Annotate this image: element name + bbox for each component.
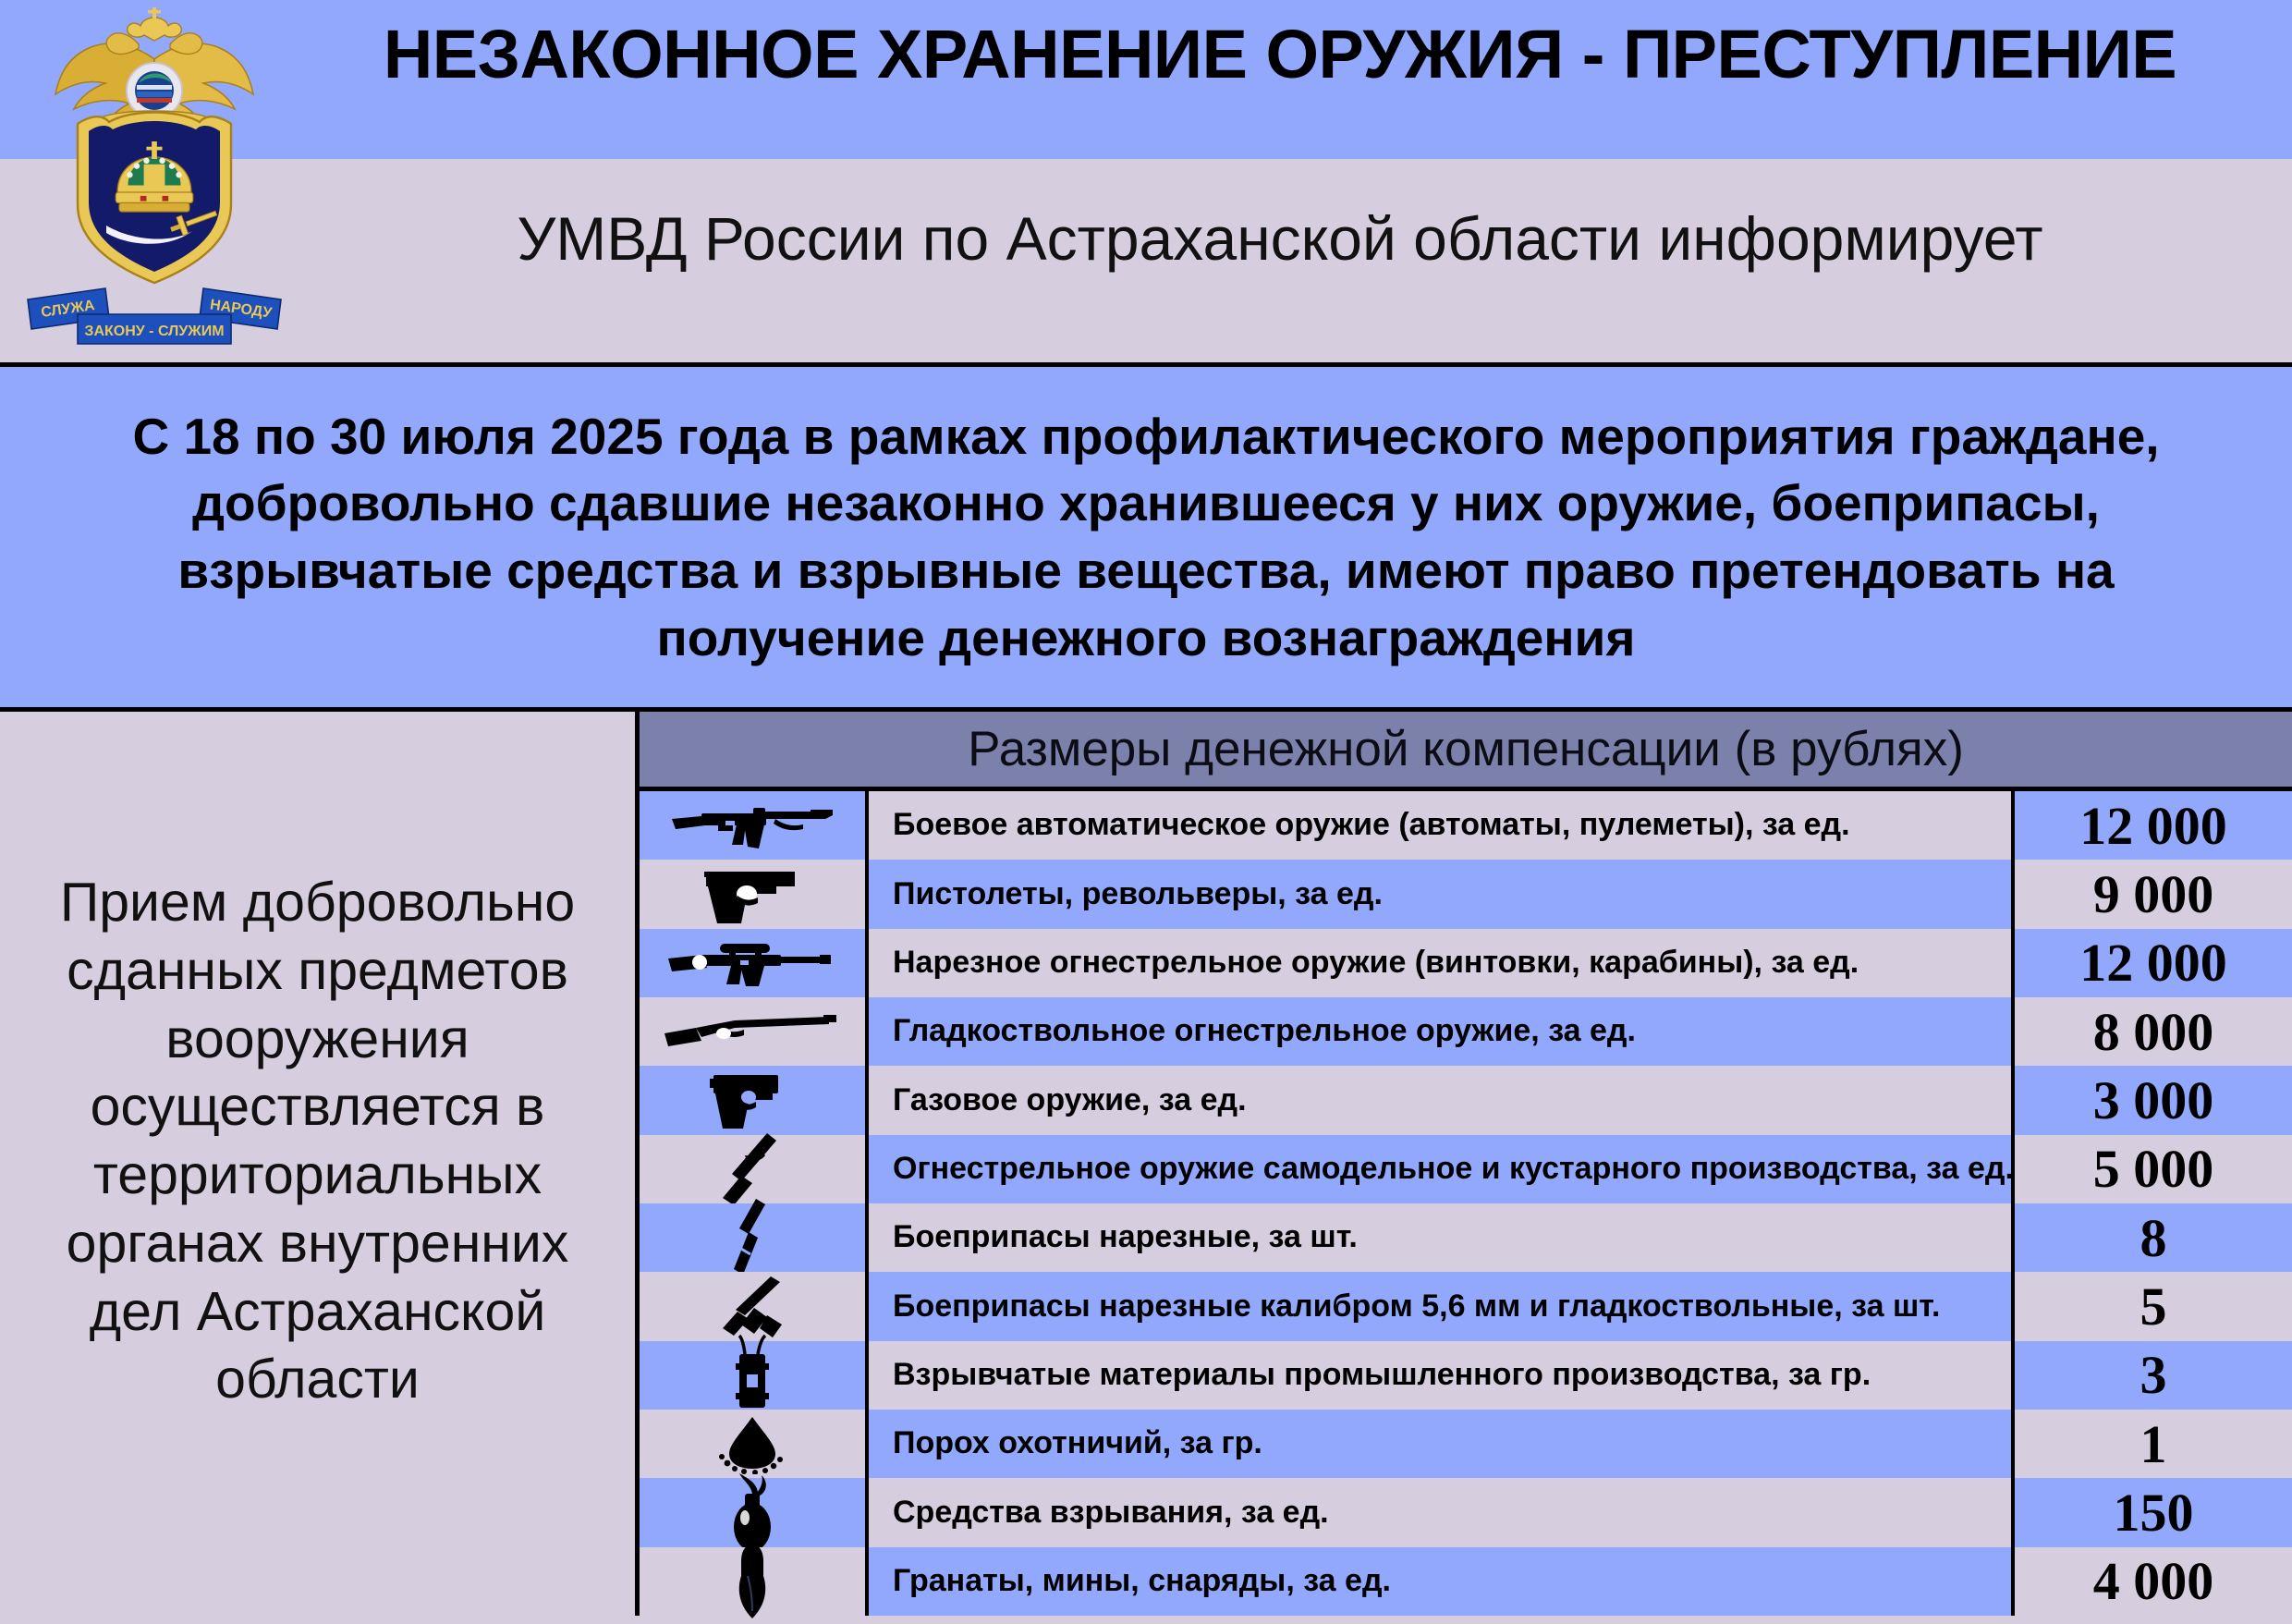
row-label-cell: Гладкоствольное огнестрельное оружие, за…: [869, 997, 2015, 1066]
compensation-table: Размеры денежной компенсации (в рублях): [640, 712, 2292, 1616]
row-amount-cell: 3 000: [2015, 1066, 2292, 1134]
row-amount-cell: 1: [2015, 1410, 2292, 1478]
table-row: Порох охотничий, за гр. 1: [640, 1410, 2292, 1478]
row-amount-cell: 9 000: [2015, 860, 2292, 928]
row-label: Гладкоствольное огнестрельное оружие, за…: [893, 1014, 1636, 1048]
table-row: Газовое оружие, за ед. 3 000: [640, 1066, 2292, 1134]
sidebar-info: Прием добровольно сданных предметов воор…: [0, 712, 640, 1616]
row-icon-cell: [640, 1203, 869, 1272]
row-label-cell: Пистолеты, револьверы, за ед.: [869, 860, 2015, 928]
row-label: Огнестрельное оружие самодельное и куста…: [893, 1152, 2014, 1186]
announcement-text: С 18 по 30 июля 2025 года в рамках профи…: [65, 403, 2227, 671]
dynamite-icon: [726, 1334, 778, 1417]
scoped-rifle-icon: [663, 934, 843, 992]
row-amount: 3 000: [2093, 1069, 2214, 1131]
row-label-cell: Газовое оружие, за ед.: [869, 1066, 2015, 1134]
row-icon-cell: [640, 1478, 869, 1546]
row-label-cell: Огнестрельное оружие самодельное и куста…: [869, 1135, 2015, 1203]
row-label-cell: Взрывчатые материалы промышленного произ…: [869, 1341, 2015, 1410]
row-icon-cell: [640, 929, 869, 997]
header-section: СЛУЖА НАРОДУ ЗАКОНУ - СЛУЖИМ НЕЗАКОННОЕ …: [0, 0, 2292, 362]
table-row: Огнестрельное оружие самодельное и куста…: [640, 1135, 2292, 1203]
row-label-cell: Гранаты, мины, снаряды, за ед.: [869, 1547, 2015, 1616]
row-amount: 12 000: [2079, 795, 2227, 857]
row-amount-cell: 12 000: [2015, 929, 2292, 997]
row-amount: 8: [2140, 1207, 2167, 1269]
row-amount: 150: [2114, 1482, 2194, 1544]
table-body: Боевое автоматическое оружие (автоматы, …: [640, 791, 2292, 1616]
table-header: Размеры денежной компенсации (в рублях): [640, 712, 2292, 791]
sidebar-text: Прием добровольно сданных предметов воор…: [22, 869, 614, 1414]
row-amount-cell: 5: [2015, 1272, 2292, 1340]
row-label: Боеприпасы нарезные, за шт.: [893, 1220, 1358, 1254]
row-amount: 8 000: [2093, 1001, 2214, 1063]
row-icon-cell: [640, 1135, 869, 1203]
page-subtitle: УМВД России по Астраханской области инфо…: [305, 205, 2255, 273]
grenade-icon: [730, 1539, 774, 1624]
row-amount-cell: 8 000: [2015, 997, 2292, 1066]
table-row: Средства взрывания, за ед. 150: [640, 1478, 2292, 1546]
announcement-block: С 18 по 30 июля 2025 года в рамках профи…: [0, 362, 2292, 712]
row-label: Боевое автоматическое оружие (автоматы, …: [893, 808, 1850, 842]
row-icon-cell: [640, 791, 869, 860]
gunpowder-pile-icon: [713, 1413, 792, 1474]
row-amount: 5: [2140, 1276, 2167, 1337]
row-icon-cell: [640, 1547, 869, 1616]
row-label-cell: Боеприпасы нарезные калибром 5,6 мм и гл…: [869, 1272, 2015, 1340]
row-label: Гранаты, мины, снаряды, за ед.: [893, 1564, 1391, 1598]
table-header-label: Размеры денежной компенсации (в рублях): [968, 721, 1964, 777]
table-row: Гранаты, мины, снаряды, за ед. 4 000: [640, 1547, 2292, 1616]
row-label-cell: Нарезное огнестрельное оружие (винтовки,…: [869, 929, 2015, 997]
row-amount: 12 000: [2079, 932, 2227, 994]
row-label: Пистолеты, револьверы, за ед.: [893, 877, 1383, 911]
row-amount: 4 000: [2093, 1550, 2214, 1612]
gas-pistol-icon: [701, 1068, 804, 1132]
row-label-cell: Боеприпасы нарезные, за шт.: [869, 1203, 2015, 1272]
row-amount-cell: 150: [2015, 1478, 2292, 1546]
page-title: НЕЗАКОННОЕ ХРАНЕНИЕ ОРУЖИЯ - ПРЕСТУПЛЕНИ…: [305, 20, 2255, 89]
row-icon-cell: [640, 1066, 869, 1134]
row-label-cell: Средства взрывания, за ед.: [869, 1478, 2015, 1546]
row-icon-cell: [640, 1410, 869, 1478]
table-row: Нарезное огнестрельное оружие (винтовки,…: [640, 929, 2292, 997]
assault-rifle-icon: [664, 797, 840, 854]
poster-root: СЛУЖА НАРОДУ ЗАКОНУ - СЛУЖИМ НЕЗАКОННОЕ …: [0, 0, 2292, 1616]
row-icon-cell: [640, 997, 869, 1066]
row-amount-cell: 3: [2015, 1341, 2292, 1410]
row-icon-cell: [640, 860, 869, 928]
row-label: Средства взрывания, за ед.: [893, 1496, 1329, 1530]
row-amount: 3: [2140, 1344, 2167, 1406]
row-amount: 1: [2140, 1413, 2167, 1475]
shotgun-icon: [661, 1006, 844, 1057]
table-row: Гладкоствольное огнестрельное оружие, за…: [640, 997, 2292, 1066]
row-label: Газовое оружие, за ед.: [893, 1083, 1247, 1117]
row-label: Боеприпасы нарезные калибром 5,6 мм и гл…: [893, 1289, 1940, 1324]
row-label: Взрывчатые материалы промышленного произ…: [893, 1358, 1871, 1392]
row-label-cell: Боевое автоматическое оружие (автоматы, …: [869, 791, 2015, 860]
emblem-motto-bottom: ЗАКОНУ - СЛУЖИМ: [84, 324, 224, 339]
row-amount: 5 000: [2093, 1138, 2214, 1200]
row-icon-cell: [640, 1341, 869, 1410]
row-amount: 9 000: [2093, 863, 2214, 925]
table-row: Пистолеты, револьверы, за ед. 9 000: [640, 860, 2292, 928]
row-amount-cell: 12 000: [2015, 791, 2292, 860]
cartridge-icon: [728, 1195, 776, 1280]
row-amount-cell: 8: [2015, 1203, 2292, 1272]
row-icon-cell: [640, 1272, 869, 1340]
row-amount-cell: 4 000: [2015, 1547, 2292, 1616]
small-cartridges-icon: [713, 1271, 791, 1341]
table-row: Боеприпасы нарезные калибром 5,6 мм и гл…: [640, 1272, 2292, 1340]
row-label: Порох охотничий, за гр.: [893, 1426, 1262, 1460]
pistol-icon: [697, 861, 808, 927]
mvd-astrakhan-emblem: СЛУЖА НАРОДУ ЗАКОНУ - СЛУЖИМ: [20, 6, 288, 357]
row-label: Нарезное огнестрельное оружие (винтовки,…: [893, 946, 1859, 980]
table-row: Взрывчатые материалы промышленного произ…: [640, 1341, 2292, 1410]
row-label-cell: Порох охотничий, за гр.: [869, 1410, 2015, 1478]
table-row: Боевое автоматическое оружие (автоматы, …: [640, 791, 2292, 860]
table-row: Боеприпасы нарезные, за шт. 8: [640, 1203, 2292, 1272]
lower-section: Прием добровольно сданных предметов воор…: [0, 712, 2292, 1616]
row-amount-cell: 5 000: [2015, 1135, 2292, 1203]
